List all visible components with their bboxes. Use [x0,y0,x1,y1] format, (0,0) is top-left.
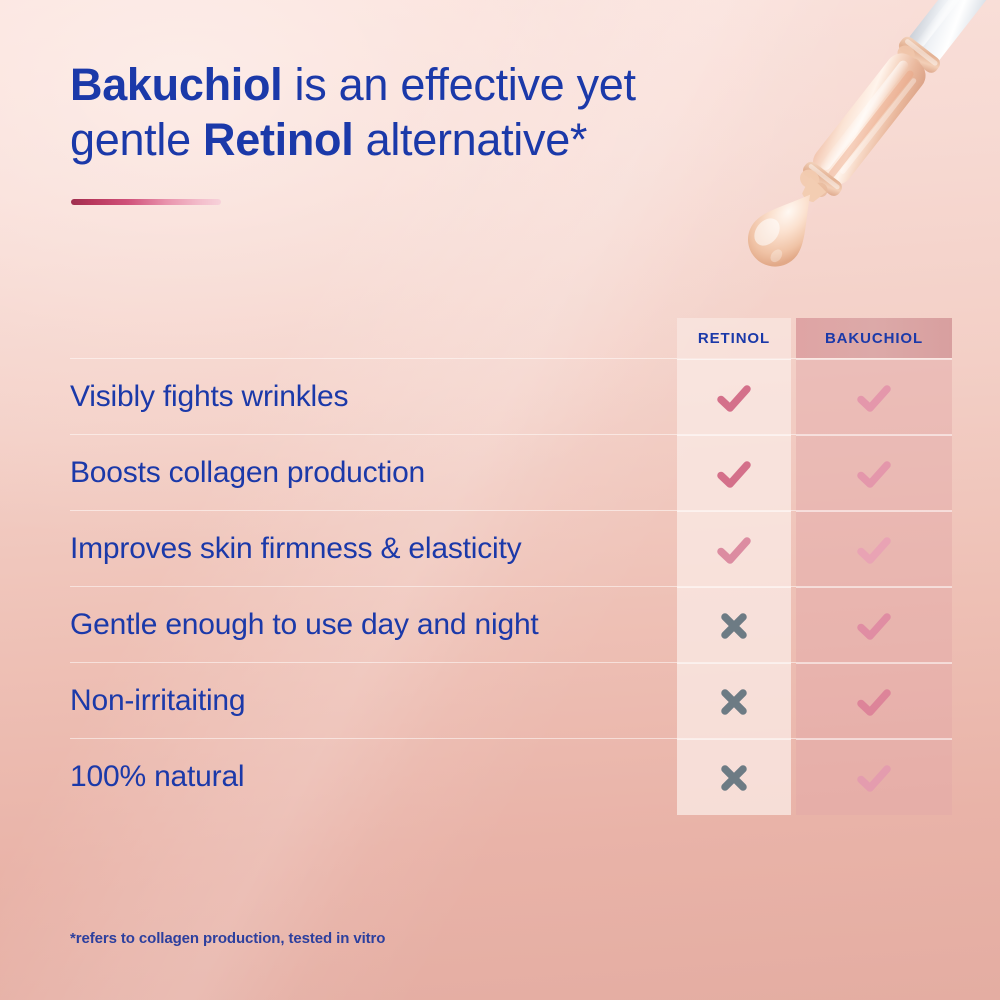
table-row: Boosts collagen production [70,434,952,510]
table-row: 100% natural [70,738,952,814]
check-icon [853,377,895,419]
check-icon [853,681,895,723]
check-icon [853,605,895,647]
check-icon [853,757,895,799]
cell-retinol [677,359,791,435]
headline-underline-rule [71,199,221,205]
feature-label: Visibly fights wrinkles [70,359,670,434]
cell-bakuchiol [796,739,952,815]
page-title: Bakuchiol is an effective yet gentle Ret… [70,58,770,168]
cross-icon [713,757,755,799]
column-header-bakuchiol: BAKUCHIOL [796,318,952,358]
cell-bakuchiol [796,435,952,511]
check-icon [853,453,895,495]
footnote: *refers to collagen production, tested i… [70,930,385,947]
cell-retinol [677,435,791,511]
cell-bakuchiol [796,511,952,587]
feature-label: Improves skin firmness & elasticity [70,511,670,586]
comparison-table: RETINOL BAKUCHIOL Visibly fights wrinkle… [70,318,952,814]
column-header-retinol-label: RETINOL [698,330,770,347]
serum-dropper-pipette-icon [690,0,1000,302]
headline-strong-retinol: Retinol [203,114,353,165]
infographic-canvas: Bakuchiol is an effective yet gentle Ret… [0,0,1000,1000]
cell-bakuchiol [796,359,952,435]
cell-retinol [677,511,791,587]
table-row: Non-irritaiting [70,662,952,738]
table-row: Gentle enough to use day and night [70,586,952,662]
check-icon [853,529,895,571]
headline-line2-post: alternative* [353,114,587,165]
check-icon [713,529,755,571]
feature-label: 100% natural [70,739,670,814]
column-header-bakuchiol-label: BAKUCHIOL [825,330,923,347]
cell-bakuchiol [796,663,952,739]
cell-retinol [677,587,791,663]
cell-bakuchiol [796,587,952,663]
table-header-row: RETINOL BAKUCHIOL [70,318,952,358]
headline-strong-bakuchiol: Bakuchiol [70,59,282,110]
cross-icon [713,681,755,723]
headline-line1-rest: is an effective yet [282,59,635,110]
headline-line2-pre: gentle [70,114,203,165]
cell-retinol [677,739,791,815]
check-icon [713,377,755,419]
feature-label: Non-irritaiting [70,663,670,738]
feature-label: Boosts collagen production [70,435,670,510]
check-icon [713,453,755,495]
feature-label: Gentle enough to use day and night [70,587,670,662]
cross-icon [713,605,755,647]
table-row: Visibly fights wrinkles [70,358,952,434]
cell-retinol [677,663,791,739]
column-header-retinol: RETINOL [677,318,791,358]
table-row: Improves skin firmness & elasticity [70,510,952,586]
